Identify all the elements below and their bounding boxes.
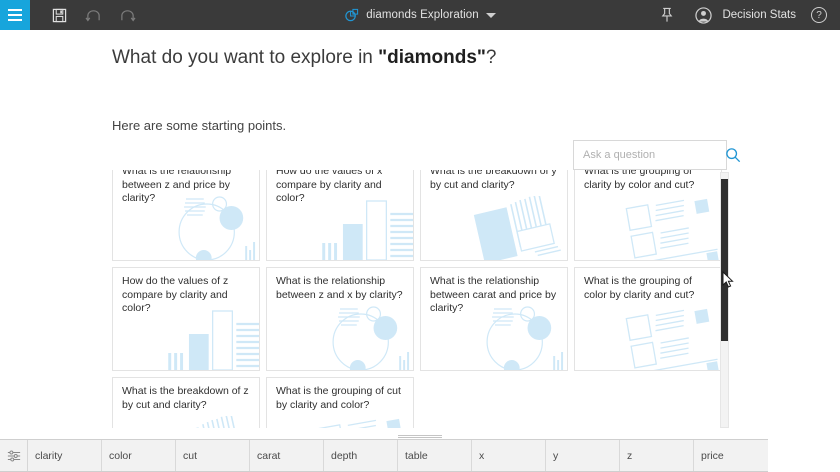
card-title: What is the breakdown of z by cut and cl… (122, 385, 251, 412)
breakdown-thumbnail (421, 196, 567, 260)
starting-points-subheading: Here are some starting points. (112, 118, 286, 133)
redo-arrow-icon[interactable] (110, 0, 144, 30)
data-table-column-header[interactable]: carat (250, 440, 324, 471)
hamburger-menu-icon[interactable] (0, 0, 30, 30)
data-table-column-header[interactable]: depth (324, 440, 398, 471)
bar-thumbnail (113, 306, 259, 370)
card-title: What is the relationship between z and x… (276, 275, 405, 302)
starting-point-card[interactable]: What is the grouping of cut by clarity a… (266, 377, 414, 428)
data-table-column-header[interactable]: table (398, 440, 472, 471)
top-toolbar: diamonds Exploration Decision Stats ? (0, 0, 840, 30)
starting-point-card[interactable]: How do the values of z compare by clarit… (112, 267, 260, 371)
starting-point-card[interactable]: What is the breakdown of y by cut and cl… (420, 170, 568, 261)
data-table-column-header[interactable]: price (694, 440, 768, 471)
scatter-thumbnail (267, 306, 413, 370)
data-table-column-header[interactable]: clarity (28, 440, 102, 471)
data-table-column-header[interactable]: y (546, 440, 620, 471)
starting-point-card[interactable]: What is the grouping of clarity by color… (574, 170, 722, 261)
cards-vertical-scrollbar[interactable] (720, 172, 729, 428)
chevron-down-icon[interactable] (486, 13, 496, 18)
starting-point-card[interactable]: How do the values of x compare by clarit… (266, 170, 414, 261)
starting-point-card[interactable]: What is the relationship between z and x… (266, 267, 414, 371)
card-title: What is the breakdown of y by cut and cl… (430, 170, 559, 192)
starting-point-card[interactable]: What is the grouping of color by clarity… (574, 267, 722, 371)
page-title: What do you want to explore in "diamonds… (112, 47, 496, 69)
card-title: What is the grouping of color by clarity… (584, 275, 713, 302)
grouping-thumbnail (575, 306, 721, 370)
scatter-thumbnail (421, 306, 567, 370)
data-table-column-header[interactable]: x (472, 440, 546, 471)
exploration-canvas: What do you want to explore in "diamonds… (0, 30, 840, 435)
help-icon[interactable]: ? (802, 0, 836, 30)
page-title-dataset: "diamonds" (378, 47, 486, 68)
card-title: What is the relationship between carat a… (430, 275, 559, 316)
breakdown-thumbnail (113, 416, 259, 428)
card-title: How do the values of z compare by clarit… (122, 275, 251, 316)
topbar-right-cluster: Decision Stats ? (650, 0, 836, 30)
data-table-column-header[interactable]: color (102, 440, 176, 471)
scrollbar-thumb[interactable] (721, 179, 728, 341)
exploration-icon (344, 8, 359, 23)
data-table-panel: claritycolorcutcaratdepthtablexyzprice (0, 439, 840, 472)
starting-point-card[interactable]: What is the relationship between z and p… (112, 170, 260, 261)
document-title[interactable]: diamonds Exploration (366, 9, 479, 21)
search-input[interactable] (583, 149, 725, 161)
search-icon[interactable] (725, 147, 741, 163)
avatar-icon[interactable] (686, 0, 720, 30)
starting-points-grid: What is the relationship between z and p… (112, 170, 725, 428)
table-settings-icon[interactable] (0, 440, 28, 471)
scatter-thumbnail (113, 196, 259, 260)
mouse-cursor (722, 271, 734, 289)
ask-a-question-box[interactable] (573, 140, 727, 170)
starting-point-card[interactable]: What is the breakdown of z by cut and cl… (112, 377, 260, 428)
data-table-column-header[interactable]: z (620, 440, 694, 471)
grouping-thumbnail (575, 196, 721, 260)
page-title-suffix: ? (486, 47, 497, 68)
card-title: What is the grouping of cut by clarity a… (276, 385, 405, 412)
data-table-column-header[interactable]: cut (176, 440, 250, 471)
pin-icon[interactable] (650, 0, 684, 30)
undo-arrow-icon[interactable] (76, 0, 110, 30)
card-title: What is the grouping of clarity by color… (584, 170, 713, 192)
save-disk-icon[interactable] (42, 0, 76, 30)
card-title: What is the relationship between z and p… (122, 170, 251, 206)
grouping-thumbnail (267, 416, 413, 428)
page-title-prefix: What do you want to explore in (112, 47, 378, 68)
user-name-label[interactable]: Decision Stats (722, 9, 796, 21)
card-title: How do the values of x compare by clarit… (276, 170, 405, 206)
starting-point-card[interactable]: What is the relationship between carat a… (420, 267, 568, 371)
help-icon-glyph: ? (811, 7, 827, 23)
bar-thumbnail (267, 196, 413, 260)
